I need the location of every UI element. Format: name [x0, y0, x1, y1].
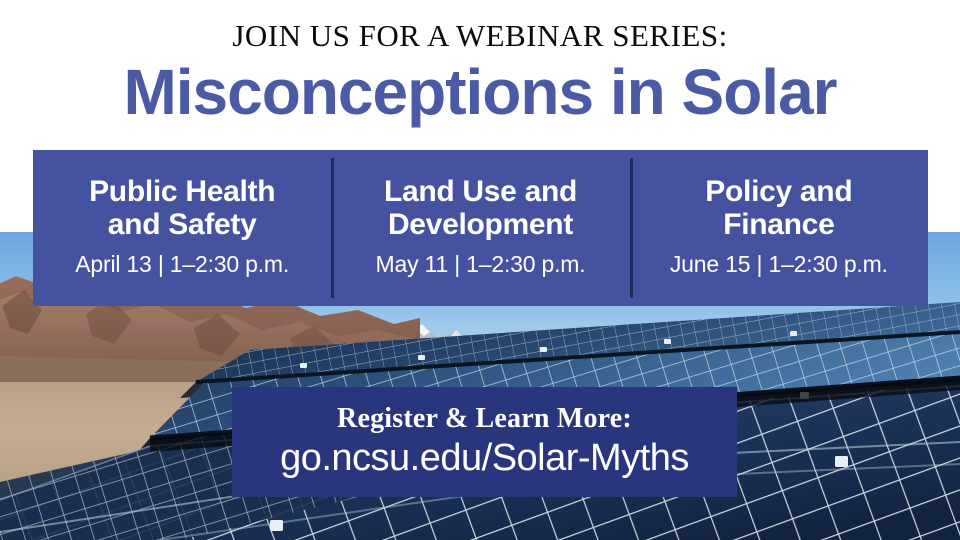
session-title-line2: Development — [388, 208, 573, 241]
session-date: May 11 | 1–2:30 p.m. — [376, 252, 586, 277]
session-title-line1: Land Use and — [384, 175, 577, 208]
poster-canvas: JOIN US FOR A WEBINAR SERIES: Misconcept… — [0, 0, 960, 540]
session-card-public-health: Public Health and Safety April 13 | 1–2:… — [33, 150, 331, 306]
register-callout-box[interactable]: Register & Learn More: go.ncsu.edu/Solar… — [232, 387, 737, 497]
session-title-line2: and Safety — [108, 208, 257, 241]
session-title-line1: Public Health — [89, 175, 275, 208]
register-heading: Register & Learn More: — [337, 404, 632, 435]
register-url-link[interactable]: go.ncsu.edu/Solar-Myths — [280, 437, 689, 480]
session-card-policy-finance: Policy and Finance June 15 | 1–2:30 p.m. — [630, 150, 928, 306]
session-date: April 13 | 1–2:30 p.m. — [75, 252, 289, 277]
eyebrow-text: JOIN US FOR A WEBINAR SERIES: — [0, 20, 960, 53]
session-title: Policy and Finance — [705, 175, 852, 242]
webinar-sessions-panel: Public Health and Safety April 13 | 1–2:… — [33, 150, 928, 306]
session-card-land-use: Land Use and Development May 11 | 1–2:30… — [331, 150, 629, 306]
session-date: June 15 | 1–2:30 p.m. — [670, 252, 888, 277]
session-title-line2: Finance — [723, 208, 834, 241]
page-title: Misconceptions in Solar — [0, 58, 960, 127]
session-title: Public Health and Safety — [89, 175, 275, 242]
session-title: Land Use and Development — [384, 175, 577, 242]
session-title-line1: Policy and — [705, 175, 852, 208]
